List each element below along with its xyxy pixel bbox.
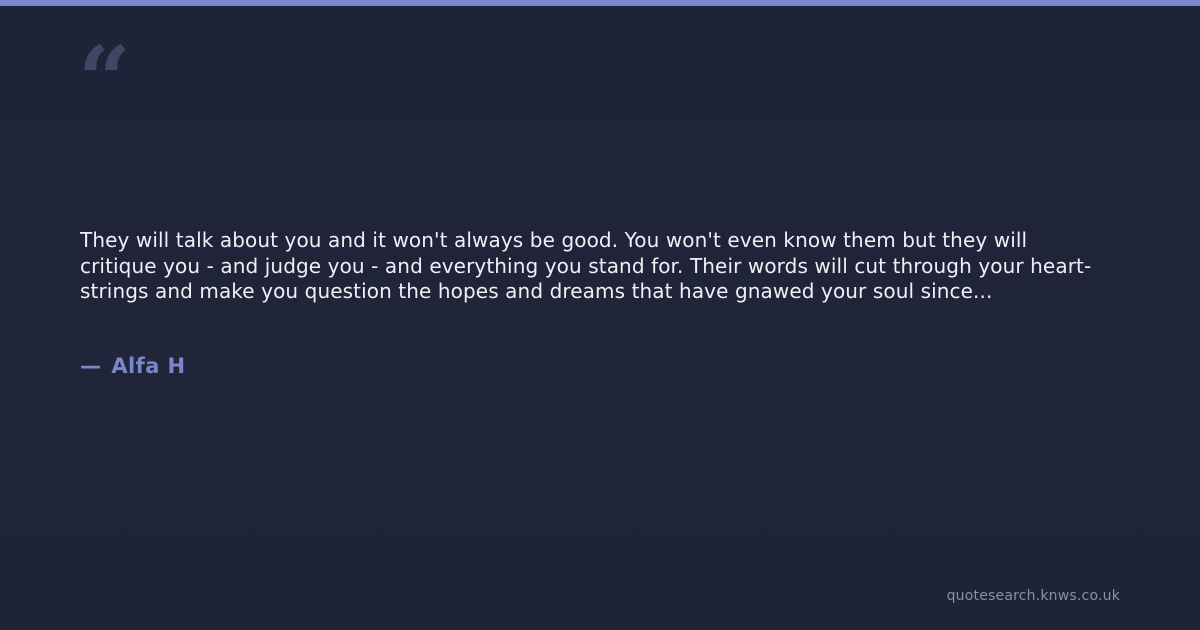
quote-text: They will talk about you and it won't al… xyxy=(80,228,1102,305)
source-url-label: quotesearch.knws.co.uk xyxy=(947,588,1120,604)
em-dash-icon: — xyxy=(80,354,101,378)
quote-card-body: “ They will talk about you and it won't … xyxy=(0,0,1200,630)
quote-card: “ They will talk about you and it won't … xyxy=(0,0,1200,630)
quote-author-name: Alfa H xyxy=(111,354,185,378)
quotation-mark-icon: “ xyxy=(78,34,129,126)
quote-attribution: — Alfa H xyxy=(80,354,185,378)
